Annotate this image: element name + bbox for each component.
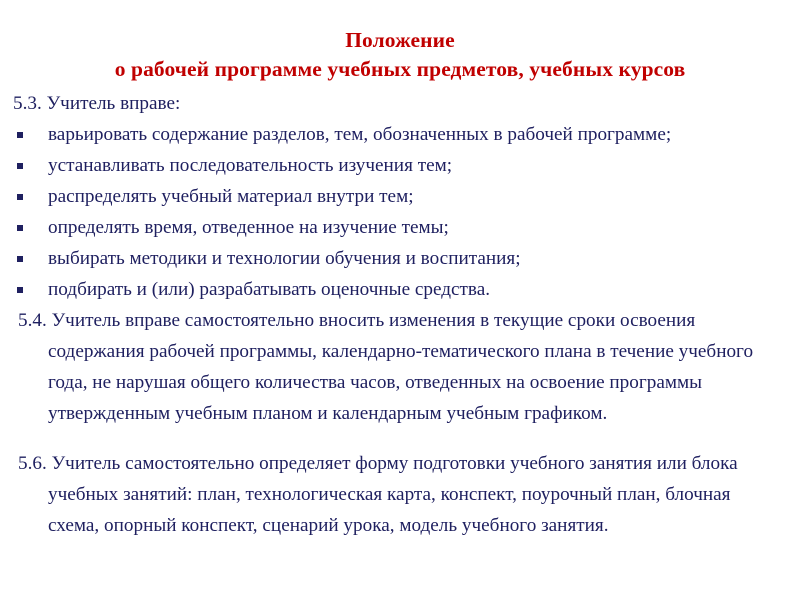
square-bullet-icon — [17, 225, 23, 231]
list-item: выбирать методики и технологии обучения … — [0, 243, 800, 274]
paragraph-5-6: 5.6. Учитель самостоятельно определяет ф… — [0, 448, 800, 541]
body-content: 5.3. Учитель вправе: варьировать содержа… — [0, 88, 800, 541]
square-bullet-icon — [17, 163, 23, 169]
list-item: подбирать и (или) разрабатывать оценочны… — [0, 274, 800, 305]
list-item: варьировать содержание разделов, тем, об… — [0, 119, 800, 150]
list-item-label: устанавливать последовательность изучени… — [48, 155, 452, 176]
square-bullet-icon — [17, 256, 23, 262]
square-bullet-icon — [17, 194, 23, 200]
slide-canvas: Положение о рабочей программе учебных пр… — [0, 0, 800, 600]
list-item-label: выбирать методики и технологии обучения … — [48, 248, 521, 269]
page-title: Положение о рабочей программе учебных пр… — [0, 0, 800, 84]
list-item: распределять учебный материал внутри тем… — [0, 181, 800, 212]
square-bullet-icon — [17, 132, 23, 138]
paragraph-5-4: 5.4. Учитель вправе самостоятельно вноси… — [0, 305, 800, 429]
title-line-1: Положение — [0, 26, 800, 55]
list-item: определять время, отведенное на изучение… — [0, 212, 800, 243]
list-item-label: распределять учебный материал внутри тем… — [48, 186, 414, 207]
list-item-label: подбирать и (или) разрабатывать оценочны… — [48, 279, 490, 300]
list-item-label: варьировать содержание разделов, тем, об… — [48, 124, 671, 145]
list-item-label: определять время, отведенное на изучение… — [48, 217, 449, 238]
square-bullet-icon — [17, 287, 23, 293]
title-line-2: о рабочей программе учебных предметов, у… — [0, 55, 800, 84]
list-item: устанавливать последовательность изучени… — [0, 150, 800, 181]
lead-paragraph: 5.3. Учитель вправе: — [0, 88, 800, 119]
rights-bullet-list: варьировать содержание разделов, тем, об… — [0, 119, 800, 305]
